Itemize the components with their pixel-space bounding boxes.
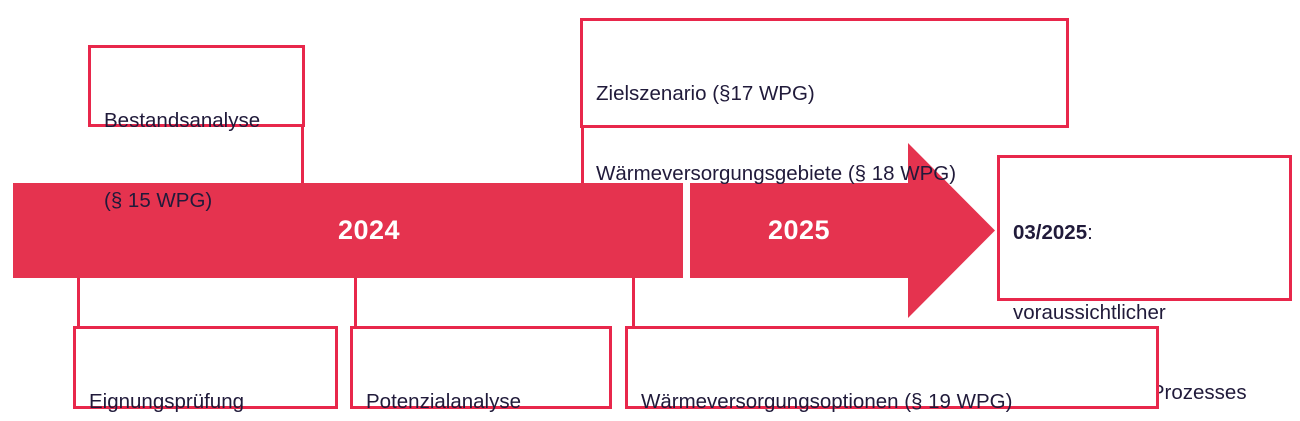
callout-zielszenario-line2: Wärmeversorgungsgebiete (§ 18 WPG) (596, 161, 1055, 188)
connector-bestandsanalyse (301, 126, 304, 188)
connector-eignungspruefung (77, 272, 80, 328)
callout-versorgungsoptionen-line1: Wärmeversorgungsoptionen (§ 19 WPG) (641, 389, 1145, 416)
callout-versorgungsoptionen: Wärmeversorgungsoptionen (§ 19 WPG) Umse… (625, 326, 1159, 409)
callout-zielszenario-line1: Zielszenario (§17 WPG) (596, 81, 1055, 108)
callout-abschluss-date: 03/2025 (1013, 221, 1087, 244)
callout-bestandsanalyse-line2: (§ 15 WPG) (104, 188, 291, 215)
callout-bestandsanalyse-line1: Bestandsanalyse (104, 108, 291, 135)
connector-zielszenario (581, 126, 584, 188)
callout-potenzialanalyse: Potenzialanalyse (§ 16 WPG) (350, 326, 612, 409)
callout-abschluss-line1: 03/2025: (1013, 220, 1278, 247)
callout-eignungspruefung-line1: Eignungsprüfung (89, 389, 324, 416)
callout-eignungspruefung: Eignungsprüfung nach (§ 14 WPG) (73, 326, 338, 409)
callout-zielszenario: Zielszenario (§17 WPG) Wärmeversorgungsg… (580, 18, 1069, 128)
callout-potenzialanalyse-line1: Potenzialanalyse (366, 389, 598, 416)
timeline-label-2024: 2024 (338, 215, 400, 246)
connector-potenzialanalyse (354, 272, 357, 328)
callout-abschluss: 03/2025: voraussichtlicher Abschluss des… (997, 155, 1292, 301)
timeline-diagram: 2024 2025 Bestandsanalyse (§ 15 WPG) Zie… (0, 0, 1300, 421)
callout-abschluss-line2: voraussichtlicher (1013, 300, 1278, 327)
callout-abschluss-colon: : (1087, 221, 1093, 244)
connector-versorgungsoptionen (632, 272, 635, 328)
callout-bestandsanalyse: Bestandsanalyse (§ 15 WPG) (88, 45, 305, 127)
